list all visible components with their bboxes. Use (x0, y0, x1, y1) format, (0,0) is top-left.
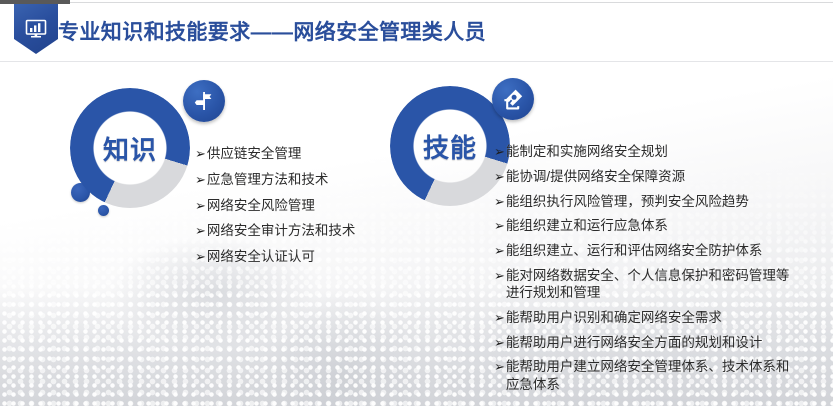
list-item: ➢ 能对网络数据安全、个人信息保护和密码管理等进行规划和管理 (494, 267, 794, 302)
knowledge-bullet-list: ➢ 供应链安全管理 ➢ 应急管理方法和技术 ➢ 网络安全风险管理 ➢ 网络安全审… (195, 145, 395, 274)
bullet-arrow-icon: ➢ (195, 145, 206, 162)
list-item: ➢ 能制定和实施网络安全规划 (494, 143, 794, 160)
bullet-arrow-icon: ➢ (494, 143, 505, 160)
bullet-arrow-icon: ➢ (494, 358, 505, 375)
knowledge-ring: 知识 (70, 88, 190, 208)
signpost-direction-icon (183, 80, 225, 122)
list-item: ➢ 能帮助用户识别和确定网络安全需求 (494, 309, 794, 326)
page-title: 专业知识和技能要求——网络安全管理类人员 (58, 16, 486, 46)
slide-canvas: 专业知识和技能要求——网络安全管理类人员 知识 ➢ 供应链安全管理 ➢ 应急管 (0, 0, 833, 406)
knowledge-ring-label: 知识 (70, 88, 190, 208)
bullet-arrow-icon: ➢ (195, 222, 206, 239)
list-item: ➢ 能帮助用户建立网络安全管理体系、技术体系和应急体系 (494, 358, 794, 393)
list-item-label: 能组织建立和运行应急体系 (506, 217, 794, 234)
list-item: ➢ 能帮助用户进行网络安全方面的规划和设计 (494, 334, 794, 351)
list-item-label: 应急管理方法和技术 (207, 171, 395, 188)
bullet-arrow-icon: ➢ (494, 309, 505, 326)
bullet-arrow-icon: ➢ (494, 267, 505, 284)
header-divider (0, 61, 833, 62)
pen-nib-icon (492, 78, 534, 120)
list-item-label: 网络安全审计方法和技术 (207, 222, 395, 239)
bullet-arrow-icon: ➢ (195, 171, 206, 188)
list-item-label: 能组织建立、运行和评估网络安全防护体系 (506, 242, 794, 259)
slide-header: 专业知识和技能要求——网络安全管理类人员 (0, 0, 833, 62)
list-item-label: 能帮助用户建立网络安全管理体系、技术体系和应急体系 (506, 358, 794, 393)
bullet-arrow-icon: ➢ (494, 242, 505, 259)
list-item-label: 能协调/提供网络安全保障资源 (506, 168, 794, 185)
presentation-chart-icon (24, 18, 48, 38)
list-item-label: 网络安全风险管理 (207, 197, 395, 214)
list-item: ➢ 应急管理方法和技术 (195, 171, 395, 188)
list-item: ➢ 网络安全风险管理 (195, 197, 395, 214)
list-item-label: 能帮助用户进行网络安全方面的规划和设计 (506, 334, 794, 351)
list-item-label: 供应链安全管理 (207, 145, 395, 162)
bullet-arrow-icon: ➢ (494, 193, 505, 210)
list-item: ➢ 能组织执行风险管理，预判安全风险趋势 (494, 193, 794, 210)
list-item: ➢ 网络安全审计方法和技术 (195, 222, 395, 239)
list-item-label: 能帮助用户识别和确定网络安全需求 (506, 309, 794, 326)
list-item: ➢ 能组织建立和运行应急体系 (494, 217, 794, 234)
bullet-arrow-icon: ➢ (494, 168, 505, 185)
list-item-label: 能组织执行风险管理，预判安全风险趋势 (506, 193, 794, 210)
list-item: ➢ 网络安全认证认可 (195, 248, 395, 265)
list-item: ➢ 供应链安全管理 (195, 145, 395, 162)
bullet-arrow-icon: ➢ (195, 197, 206, 214)
bullet-arrow-icon: ➢ (494, 334, 505, 351)
bullet-arrow-icon: ➢ (195, 248, 206, 265)
bullet-arrow-icon: ➢ (494, 217, 505, 234)
list-item: ➢ 能协调/提供网络安全保障资源 (494, 168, 794, 185)
list-item: ➢ 能组织建立、运行和评估网络安全防护体系 (494, 242, 794, 259)
list-item-label: 网络安全认证认可 (207, 248, 395, 265)
list-item-label: 能制定和实施网络安全规划 (506, 143, 794, 160)
skills-bullet-list: ➢ 能制定和实施网络安全规划 ➢ 能协调/提供网络安全保障资源 ➢ 能组织执行风… (494, 143, 794, 400)
list-item-label: 能对网络数据安全、个人信息保护和密码管理等进行规划和管理 (506, 267, 794, 302)
